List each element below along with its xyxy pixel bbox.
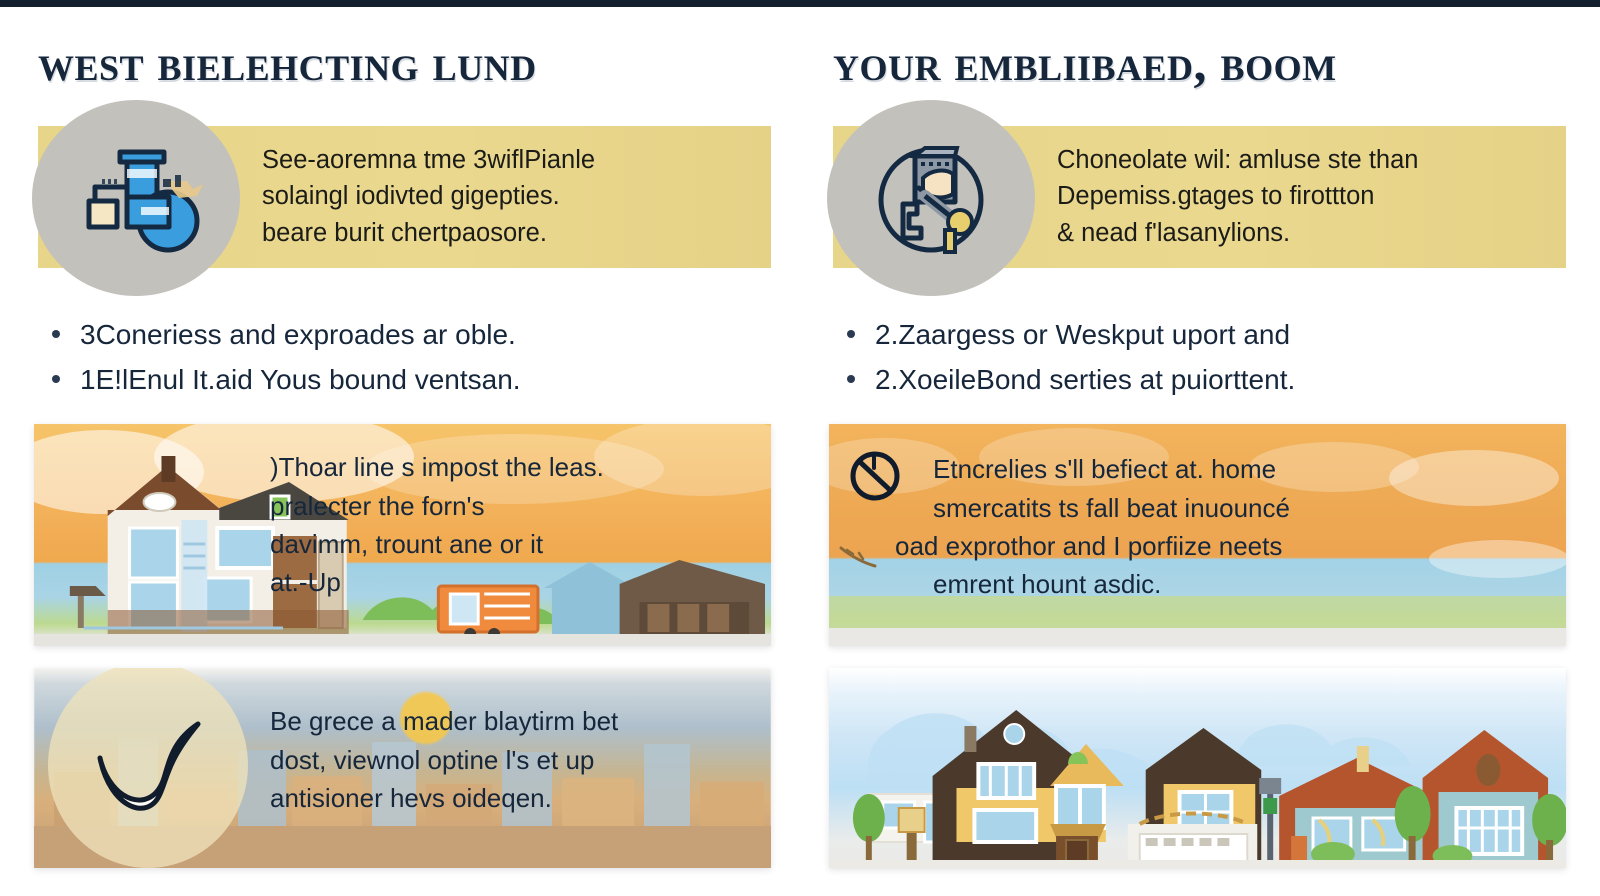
list-item: 1E!lEnul It.aid Yous bound ventsan. [46,357,771,402]
infographic-page: West Bielehcting Lund [0,7,1600,896]
mid-panel-right: Etncrelies s'll befiect at. home smercat… [829,424,1566,646]
mid-panel-left: )Thoar line s impost the leas. pralecter… [34,424,771,646]
checkmark-icon [86,706,212,826]
list-item: 2.XoeileBond serties at puiorttent. [841,357,1566,402]
list-item: 2.Zaargess or Weskput uport and [841,312,1566,357]
right-column: Your Embliibaed, Boom [829,23,1566,886]
hand-holding-tool-icon [863,134,999,262]
mid-panel-text-left: )Thoar line s impost the leas. pralecter… [270,424,622,646]
callout-badge-left [32,100,240,296]
bullet-list-right: 2.Zaargess or Weskput uport and 2.Xoeile… [841,312,1566,403]
callout-right: Choneolate wil: amluse ste than Depemiss… [829,118,1566,276]
mid-panel-text-right: Etncrelies s'll befiect at. home smercat… [933,424,1308,646]
suburban-houses-illustration [829,668,1566,868]
left-column: West Bielehcting Lund [34,23,771,886]
callout-badge-right [827,100,1035,296]
bottom-panel-left: Be grece a mader blaytirm bet dost, view… [34,668,771,868]
list-item: 3Coneriess and exproades ar oble. [46,312,771,357]
water-pipe-factory-icon [67,135,205,261]
page-title-right: Your Embliibaed, Boom [833,37,1566,92]
prohibited-circle-slash-icon [847,448,903,504]
callout-text-right: Choneolate wil: amluse ste than Depemiss… [1057,142,1430,252]
callout-left: See-aoremna tme 3wiflPianle solaingl iod… [34,118,771,276]
page-title-left: West Bielehcting Lund [38,37,771,92]
bottom-panel-right [829,668,1566,868]
top-rule [0,0,1600,7]
callout-text-left: See-aoremna tme 3wiflPianle solaingl iod… [262,142,607,252]
branch-accent-icon [839,544,885,574]
bottom-panel-text-left: Be grece a mader blaytirm bet dost, view… [270,668,771,827]
bullet-list-left: 3Coneriess and exproades ar oble. 1E!lEn… [46,312,771,403]
